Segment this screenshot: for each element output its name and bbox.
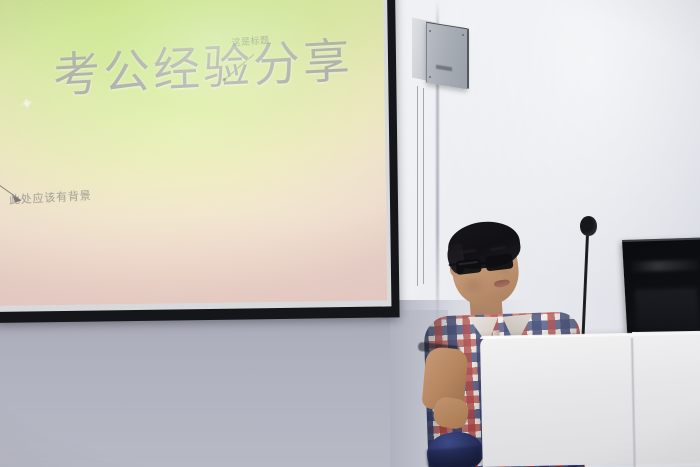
projection-screen-surface: ✦ 考公经验分享 这是标题 此处应该有背景	[0, 0, 387, 306]
projection-screen-frame: ✦ 考公经验分享 这是标题 此处应该有背景	[0, 0, 400, 323]
monitor-sheen	[629, 260, 700, 272]
wall-lower-section	[0, 310, 448, 467]
projection-screen-border: ✦ 考公经验分享 这是标题 此处应该有背景	[0, 0, 391, 312]
speaker-box-front	[426, 22, 467, 89]
slide-annotation-background: 此处应该有背景	[9, 187, 92, 208]
speaker-screw	[429, 30, 431, 32]
speaker-screw	[429, 76, 431, 78]
podium	[480, 332, 700, 467]
chair-shadow	[426, 446, 482, 467]
lecture-room-photo: ✦ 考公经验分享 这是标题 此处应该有背景	[0, 0, 700, 467]
star-sparkle-icon: ✦	[17, 94, 37, 114]
speaker-screw	[462, 34, 464, 36]
slide-title: 考公经验分享	[53, 35, 354, 100]
wall-speaker-box	[415, 17, 475, 89]
slide-annotation-title: 这是标题	[231, 33, 269, 48]
